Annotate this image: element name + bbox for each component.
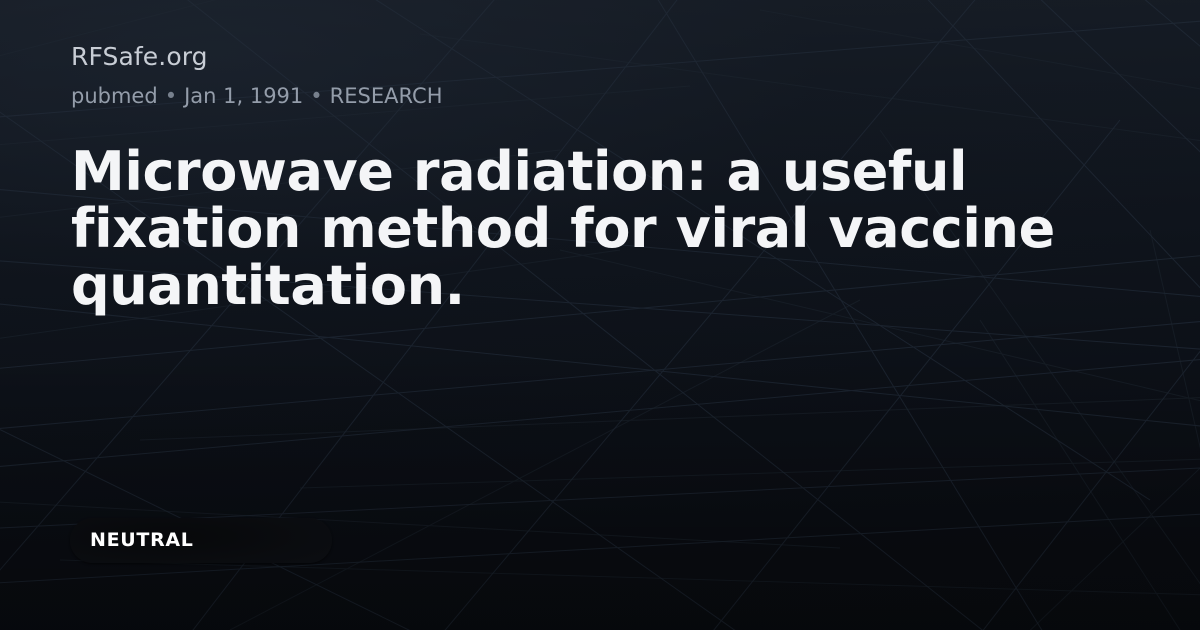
meta-source: pubmed — [71, 84, 158, 108]
meta-separator-2: • — [303, 84, 329, 108]
meta-category: RESEARCH — [330, 84, 443, 108]
og-preview-card: RFSafe.org pubmed•Jan 1, 1991•RESEARCH M… — [0, 0, 1200, 630]
article-meta: pubmed•Jan 1, 1991•RESEARCH — [71, 83, 443, 109]
status-badge: NEUTRAL — [70, 518, 332, 563]
site-name: RFSafe.org — [71, 42, 208, 72]
status-badge-label: NEUTRAL — [70, 531, 194, 550]
meta-date: Jan 1, 1991 — [184, 84, 303, 108]
card-content: RFSafe.org pubmed•Jan 1, 1991•RESEARCH M… — [0, 0, 1200, 630]
meta-separator-1: • — [158, 84, 184, 108]
article-headline: Microwave radiation: a useful fixation m… — [71, 143, 1081, 314]
